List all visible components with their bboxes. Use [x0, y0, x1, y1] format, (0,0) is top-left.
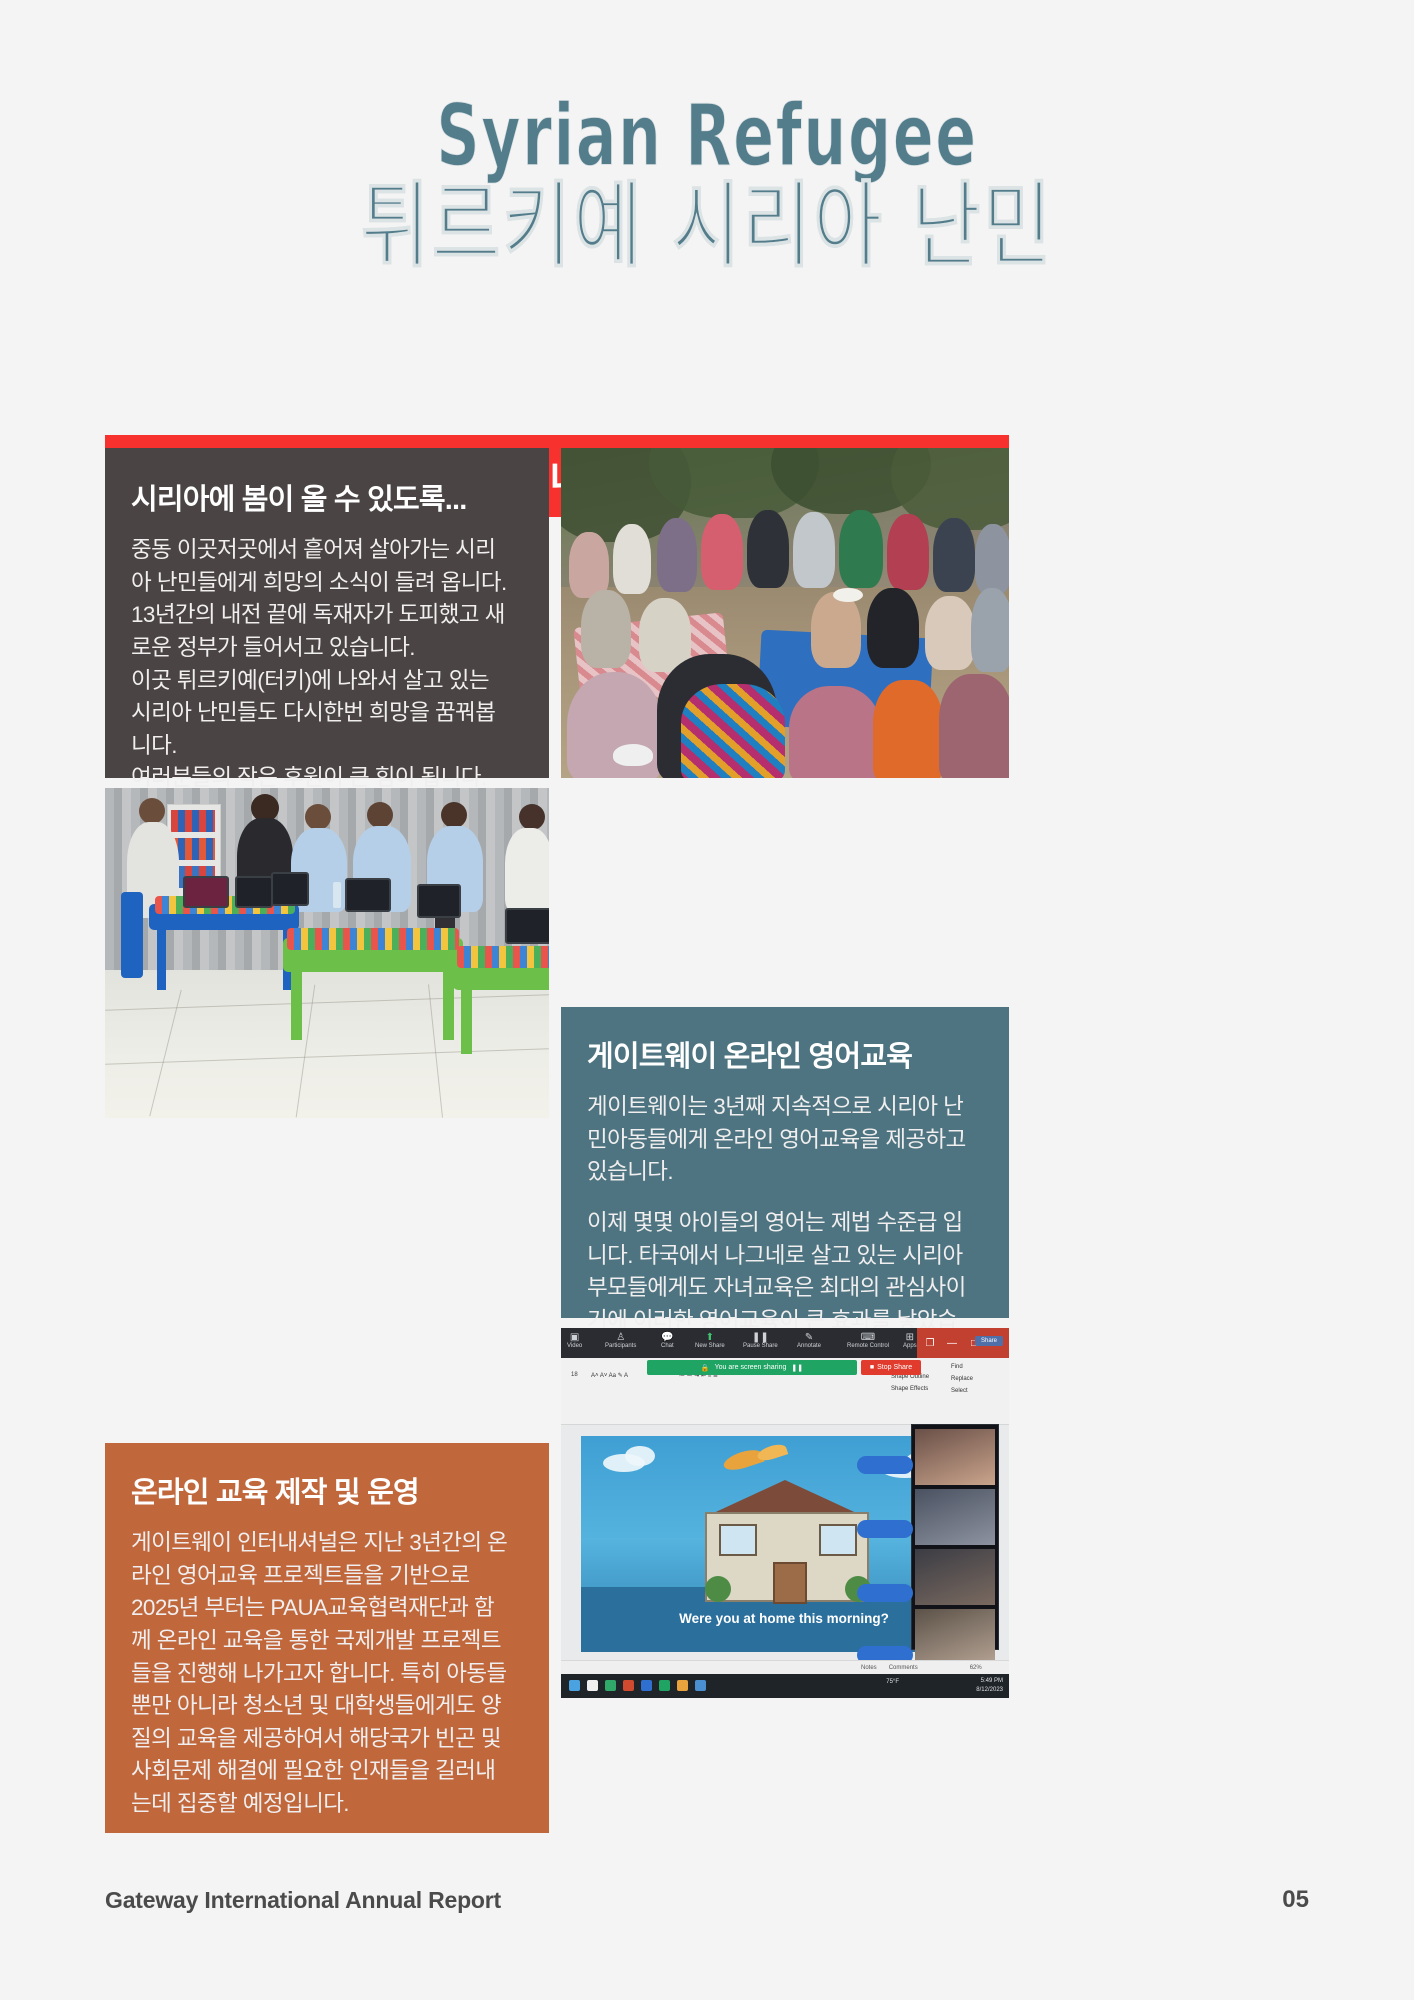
bird-icon: [722, 1446, 765, 1474]
participant-tile[interactable]: [915, 1549, 995, 1605]
folder-icon[interactable]: [677, 1680, 688, 1691]
replace-button[interactable]: Replace: [951, 1376, 973, 1382]
stop-share-button[interactable]: ■ Stop Share: [861, 1360, 921, 1375]
footer-report-title: Gateway International Annual Report: [105, 1887, 501, 1914]
zoom-level-label[interactable]: 62%: [970, 1665, 982, 1671]
zoom-toolbar-pause-share[interactable]: ❚❚ Pause Share: [743, 1332, 778, 1350]
clock-time: 5:49 PM: [976, 1677, 1003, 1686]
photo-zoom-screenshot: ▣ Video ♙ Participants 💬 Chat ⬆ New Shar…: [561, 1328, 1009, 1698]
windows-taskbar: 75°F 5:49 PM 8/12/2023: [561, 1674, 1009, 1698]
report-page: Syrian Refugee 튀르키예 시리아 난민 난민 관련 사진 및 내용…: [0, 0, 1414, 2000]
powerpoint-icon[interactable]: [623, 1680, 634, 1691]
stop-share-label: Stop Share: [877, 1364, 912, 1371]
card-online-english: 게이트웨이 온라인 영어교육 게이트웨이는 3년째 지속적으로 시리아 난 민아…: [561, 1007, 1009, 1318]
font-tools-icons[interactable]: A˄ A˅ Aa ✎ A: [591, 1372, 628, 1379]
house-body: [705, 1512, 869, 1602]
comments-label[interactable]: Comments: [889, 1665, 918, 1671]
house-door: [773, 1562, 807, 1604]
annotation-stroke: [857, 1584, 913, 1602]
photo-classroom-tablets: [105, 788, 549, 1118]
excel-icon[interactable]: [605, 1680, 616, 1691]
annotation-stroke: [857, 1456, 913, 1474]
zoom-toolbar-new-share[interactable]: ⬆ New Share: [695, 1332, 725, 1350]
zoom-toolbar-chat-label: Chat: [661, 1343, 674, 1350]
zoom-toolbar-remote-label: Remote Control: [847, 1343, 889, 1350]
weather-temperature: 75°F: [886, 1679, 899, 1685]
notes-bar: Notes Comments 62%: [561, 1660, 1009, 1674]
card-syria-spring-heading: 시리아에 봄이 올 수 있도록...: [131, 476, 523, 518]
page-footer: Gateway International Annual Report 05: [105, 1886, 1309, 1914]
annotation-stroke: [857, 1520, 913, 1538]
zoom-toolbar-video-label: Video: [567, 1343, 582, 1350]
zoom-toolbar-new-share-label: New Share: [695, 1343, 725, 1350]
participant-gallery: [911, 1424, 999, 1650]
select-button[interactable]: Select: [951, 1388, 968, 1394]
cloud-icon: [625, 1446, 655, 1466]
photo-refugees-gathering: [561, 448, 1009, 778]
font-size-value[interactable]: 18: [571, 1372, 578, 1378]
bush-icon: [705, 1576, 731, 1602]
zoom-toolbar-annotate[interactable]: ✎ Annotate: [797, 1332, 821, 1350]
chat-icon: 💬: [661, 1332, 673, 1343]
participant-tile[interactable]: [915, 1489, 995, 1545]
word-icon[interactable]: [641, 1680, 652, 1691]
card-online-english-body-1: 게이트웨이는 3년째 지속적으로 시리아 난 민아동들에게 온라인 영어교육을 …: [587, 1091, 983, 1189]
remote-control-icon: ⌨: [861, 1332, 875, 1343]
card-online-production-body: 게이트웨이 인터내셔널은 지난 3년간의 온 라인 영어교육 프로젝트들을 기반…: [131, 1527, 523, 1821]
zoom-toolbar-pause-label: Pause Share: [743, 1343, 778, 1350]
participant-tile[interactable]: [915, 1609, 995, 1665]
zoom-toolbar-annotate-label: Annotate: [797, 1343, 821, 1350]
title-korean-text: 튀르키예 시리아 난민: [361, 182, 1054, 271]
zoom-toolbar-apps[interactable]: ⊞ Apps: [903, 1332, 917, 1350]
house-window: [819, 1524, 857, 1556]
screen-sharing-notice-text: You are screen sharing: [715, 1364, 787, 1371]
card-online-production-heading: 온라인 교육 제작 및 운영: [131, 1469, 523, 1511]
new-share-icon: ⬆: [706, 1332, 714, 1343]
participant-tile[interactable]: [915, 1429, 995, 1485]
title-english-text: Syrian Refugee: [436, 96, 977, 178]
shape-effects-label[interactable]: Shape Effects: [891, 1386, 928, 1392]
zoom-toolbar-chat[interactable]: 💬 Chat: [661, 1332, 674, 1350]
title-english: Syrian Refugee: [156, 96, 1259, 178]
share-lock-icon: 🔒: [701, 1364, 710, 1372]
search-icon[interactable]: [587, 1680, 598, 1691]
notes-label[interactable]: Notes: [861, 1665, 877, 1671]
screen-sharing-notice: 🔒 You are screen sharing ❚❚: [647, 1360, 857, 1375]
zoom-toolbar-remote-control[interactable]: ⌨ Remote Control: [847, 1332, 889, 1350]
title-korean: 튀르키예 시리아 난민: [141, 182, 1272, 271]
zoom-toolbar-participants[interactable]: ♙ Participants: [605, 1332, 636, 1350]
find-button[interactable]: Find: [951, 1364, 963, 1370]
stop-icon: ■: [870, 1364, 874, 1371]
start-icon[interactable]: [569, 1680, 580, 1691]
share-pause-icon[interactable]: ❚❚: [791, 1364, 803, 1372]
bird-icon: [756, 1442, 789, 1464]
card-online-production: 온라인 교육 제작 및 운영 게이트웨이 인터내셔널은 지난 3년간의 온 라인…: [105, 1443, 549, 1833]
taskbar-clock[interactable]: 5:49 PM 8/12/2023: [976, 1677, 1003, 1695]
card-syria-spring: 시리아에 봄이 올 수 있도록... 중동 이곳저곳에서 흩어져 살아가는 시리…: [105, 448, 549, 778]
zoom-toolbar-participants-label: Participants: [605, 1343, 636, 1350]
house-window: [719, 1524, 757, 1556]
whatsapp-icon[interactable]: [659, 1680, 670, 1691]
house-roof: [693, 1480, 877, 1514]
pause-icon: ❚❚: [752, 1332, 769, 1343]
zoom-toolbar-apps-label: Apps: [903, 1343, 917, 1350]
card-online-english-heading: 게이트웨이 온라인 영어교육: [587, 1033, 983, 1075]
house-illustration: [699, 1480, 871, 1598]
footer-page-number: 05: [1282, 1886, 1309, 1914]
apps-icon: ⊞: [906, 1332, 914, 1343]
participants-icon: ♙: [616, 1332, 625, 1343]
zoom-toolbar-video[interactable]: ▣ Video: [567, 1332, 582, 1350]
video-icon: ▣: [570, 1332, 579, 1343]
card-syria-spring-body: 중동 이곳저곳에서 흩어져 살아가는 시리 아 난민들에게 희망의 소식이 들려…: [131, 534, 523, 795]
browser-icon[interactable]: [695, 1680, 706, 1691]
page-title: Syrian Refugee 튀르키예 시리아 난민: [0, 96, 1414, 271]
pencil-icon: ✎: [805, 1332, 813, 1343]
share-button[interactable]: Share: [975, 1336, 1003, 1346]
clock-date: 8/12/2023: [976, 1686, 1003, 1695]
